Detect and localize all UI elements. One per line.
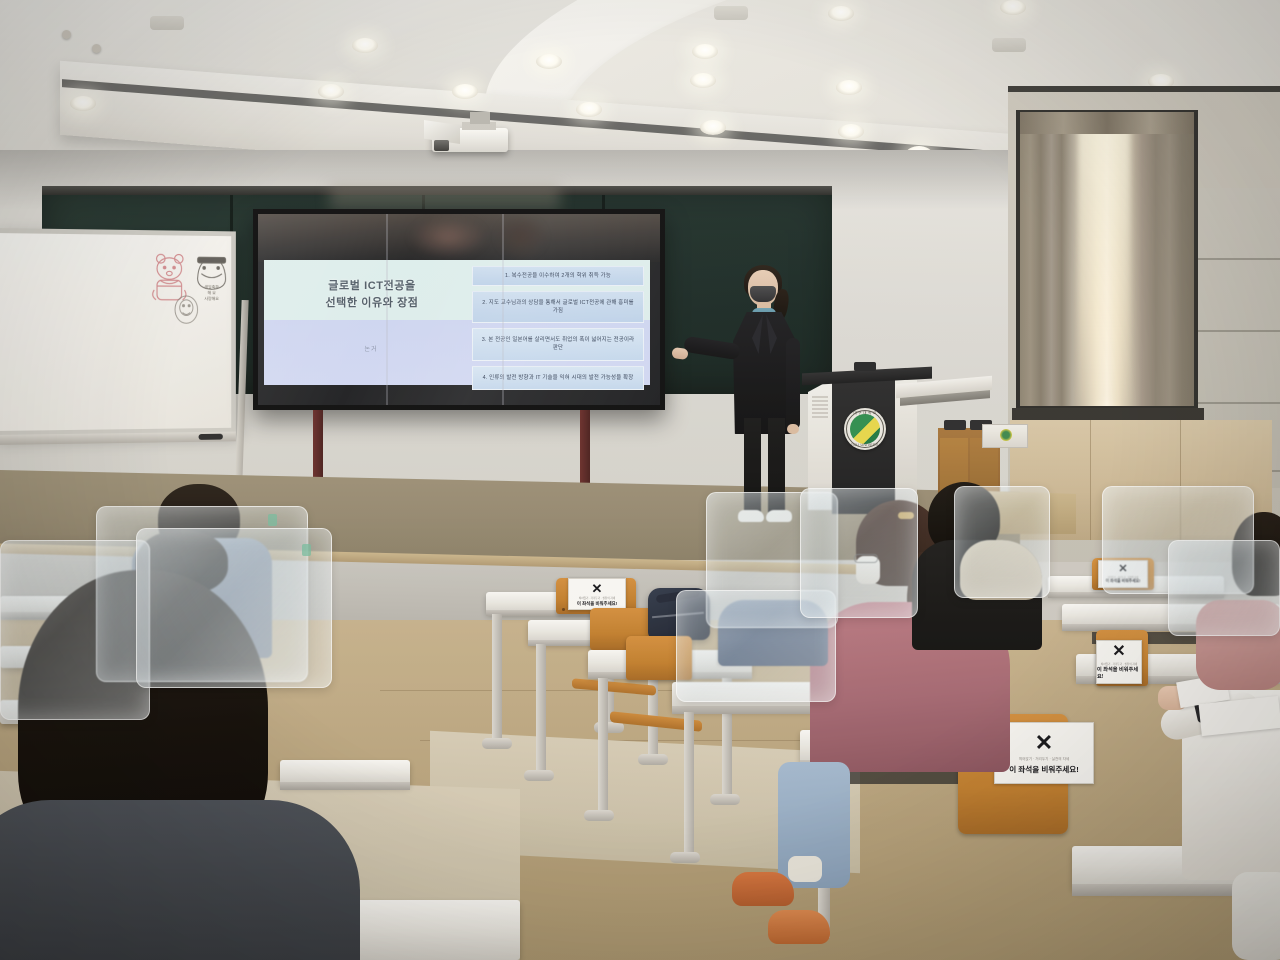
- downlight: [452, 84, 478, 99]
- slide-title-line-2: 선택한 이유와 장점: [286, 295, 458, 312]
- seat-sign-text: 이 좌석을 비워주세요!: [1009, 764, 1079, 775]
- projector-lens: [434, 140, 449, 151]
- seat-closed-sign: ✕ 띄어앉기 · 거리두기 · 실천의 자세 이 좌석을 비워주세요!: [568, 578, 626, 610]
- downlight: [828, 6, 854, 21]
- seat-sign-text: 이 좌석을 비워주세요!: [1097, 666, 1141, 680]
- whiteboard-surface: 생일축하 해 요 사랑해요: [0, 228, 236, 436]
- slide-bullet-list: 1. 복수전공을 이수하여 2개의 학위 취득 가능 2. 지도 교수님과의 상…: [472, 266, 644, 395]
- slide-title-line-1: 글로벌 ICT전공을: [286, 278, 458, 295]
- curtain-pleat-header: [1020, 112, 1194, 134]
- projector-ceiling-plate: [470, 112, 490, 124]
- downlight: [576, 102, 602, 117]
- student-shoe: [732, 872, 794, 906]
- emblem-top-text: 대 구 대 학 교: [844, 411, 886, 416]
- desk-foot: [638, 754, 668, 765]
- x-mark-icon: ✕: [1112, 644, 1125, 660]
- acrylic-desk-divider: [800, 488, 918, 618]
- downlight: [352, 38, 378, 53]
- appliance-logo-icon: [1000, 429, 1012, 441]
- downlight: [690, 73, 716, 88]
- downlight: [836, 80, 862, 95]
- doodle-note-line-2: 해 요: [208, 289, 216, 295]
- seat-sign-text: 이 좌석을 비워주세요!: [577, 601, 617, 607]
- downlight: [318, 84, 344, 99]
- mobile-whiteboard: 생일축하 해 요 사랑해요: [0, 228, 236, 436]
- doodle-note-line-3: 사랑해요: [204, 295, 219, 301]
- student-sock: [788, 856, 822, 882]
- desk-edge: [280, 782, 410, 790]
- desk-leg: [492, 614, 502, 740]
- presenter-right-hand: [787, 424, 799, 434]
- lectern-microphone-base: [854, 362, 876, 371]
- student-shoe: [768, 910, 830, 944]
- university-emblem: DAEGU UNIVERSITY 대 구 대 학 교: [844, 408, 886, 450]
- ceiling-vent: [150, 16, 184, 30]
- acrylic-desk-divider: [0, 540, 150, 720]
- downlight: [536, 54, 562, 69]
- downlight: [70, 96, 96, 111]
- desk-foot: [584, 810, 614, 821]
- presenter-face-mask: [750, 286, 776, 302]
- divider-clip: [302, 544, 311, 556]
- x-mark-icon: ✕: [1035, 732, 1053, 754]
- doodle-note-line-1: 생일축하: [204, 283, 219, 289]
- desk-leg: [598, 678, 608, 812]
- presentation-display[interactable]: 글로벌 ICT전공을 선택한 이유와 장점 논거 1. 복수전공을 이수하여 2…: [253, 209, 665, 410]
- ceiling-vent: [992, 38, 1026, 52]
- desk-foot: [482, 738, 512, 749]
- sprinkler-head: [62, 30, 71, 39]
- desk-leg: [536, 644, 546, 772]
- downlight: [838, 124, 864, 139]
- curtain-daylight-glow: [1078, 118, 1130, 400]
- student-desk: [340, 900, 520, 960]
- sprinkler-head: [92, 44, 101, 53]
- cabinet-equipment: [944, 420, 966, 430]
- downlight: [700, 120, 726, 135]
- slide-bullet-item: 1. 복수전공을 이수하여 2개의 학위 취득 가능: [472, 266, 644, 286]
- lectern-vents: [812, 396, 828, 418]
- screen-reflection-blob: [408, 216, 488, 258]
- slide-title: 글로벌 ICT전공을 선택한 이유와 장점: [286, 278, 458, 312]
- whiteboard-doodles: 생일축하 해 요 사랑해요: [0, 233, 241, 441]
- desk-leg: [684, 712, 694, 854]
- slide-bullet-item: 4. 인류의 발전 방향과 IT 기술을 익혀 시대의 발전 가능성을 확장: [472, 366, 644, 390]
- slide-content: 글로벌 ICT전공을 선택한 이유와 장점 논거 1. 복수전공을 이수하여 2…: [264, 260, 650, 385]
- student-upper-body: [0, 800, 360, 960]
- presenter-right-arm: [786, 338, 800, 430]
- downlight: [692, 44, 718, 59]
- seat-sign-subtext: 띄어앉기 · 거리두기 · 실천의 자세: [1019, 757, 1069, 762]
- seat-sign-subtext: 띄어앉기 · 거리두기 · 실천의 자세: [579, 596, 615, 600]
- ceiling-vent: [714, 6, 748, 20]
- acrylic-desk-divider: [954, 486, 1050, 598]
- whiteboard-marker: [199, 434, 223, 440]
- slide-bullet-item: 2. 지도 교수님과의 상담을 통해서 글로벌 ICT전공에 관해 흥미를 가짐: [472, 291, 644, 323]
- x-mark-icon: ✕: [592, 582, 603, 595]
- student-upper-body: [1232, 872, 1280, 960]
- acrylic-desk-divider: [1168, 540, 1280, 636]
- display-screen: 글로벌 ICT전공을 선택한 이유와 장점 논거 1. 복수전공을 이수하여 2…: [258, 214, 660, 405]
- desk-foot: [710, 794, 740, 805]
- emblem-bottom-text: DAEGU UNIVERSITY: [844, 443, 886, 447]
- window-sill: [1012, 408, 1204, 420]
- desk-foot: [670, 852, 700, 863]
- seat-closed-sign: ✕ 띄어앉기 · 거리두기 · 실천의 자세 이 좌석을 비워주세요!: [1096, 640, 1142, 684]
- slide-bullet-item: 3. 본 전공인 일본어를 살리면서도 취업의 폭이 넓어지는 전공이라 판단: [472, 328, 644, 360]
- lecture-hall-photo: 생일축하 해 요 사랑해요: [0, 0, 1280, 960]
- slide-subtitle: 논거: [326, 344, 416, 353]
- desk-foot: [524, 770, 554, 781]
- downlight: [1000, 0, 1026, 15]
- divider-clip: [268, 514, 277, 526]
